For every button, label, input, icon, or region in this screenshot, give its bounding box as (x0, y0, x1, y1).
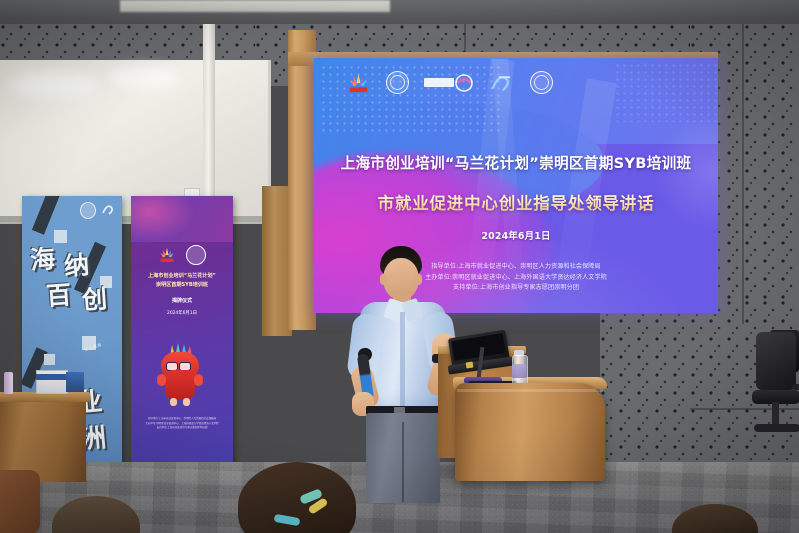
swoosh-logo (490, 70, 515, 95)
mascot-body (165, 370, 195, 400)
banner-purple-date: 2024年6月1日 (135, 310, 229, 316)
banner-purple-credits: 指导单位:上海市就业促进中心、崇明区人力资源和社会保障局 主办单位:崇明区就业促… (136, 417, 228, 431)
banner-purple-title3: 揭牌仪式 (135, 297, 229, 304)
speaker-ear (415, 274, 422, 285)
speaker-ear (380, 274, 387, 285)
banner-title-line: 崇明区首期SYB培训班 (135, 281, 229, 290)
whiteboard-glare (108, 66, 178, 88)
screen-logo-row (346, 70, 554, 95)
supply-box (66, 372, 84, 392)
ceiling-light (120, 0, 390, 12)
whiteboard-glare (10, 72, 100, 98)
banner-purple-logos (145, 244, 219, 266)
mascot-leg (170, 398, 177, 406)
wall-seam (742, 24, 744, 324)
podium (455, 383, 605, 481)
audience-person (0, 470, 40, 533)
chair-base (754, 424, 799, 432)
banner-blue-word: 海 (29, 239, 56, 277)
cup (4, 372, 13, 394)
credit-line: 指导单位:上海市就业促进中心、崇明区人力资源和社会保障局 (136, 417, 228, 422)
credit-line: 支持单位:上海市创业指导专家志愿团崇明分团 (136, 426, 228, 431)
chongming-seal-logo (186, 245, 206, 265)
university-seal-logo (529, 70, 554, 95)
laptop-badge (466, 362, 474, 369)
chair-backrest (756, 332, 796, 390)
wood-column (288, 30, 316, 330)
screen-title-line2: 市就业促进中心创业指导处领导讲话 (314, 190, 718, 214)
office-chair (756, 332, 799, 444)
seal-icon (80, 202, 96, 219)
mascot-arm (157, 374, 166, 386)
swoosh-icon (101, 202, 116, 217)
chongming-seal-logo (385, 70, 410, 95)
banner-purple: 上海市创业培训“马兰花计划” 崇明区首期SYB培训班 揭牌仪式 2024年6月1… (131, 196, 233, 464)
supply-box-band (36, 374, 66, 380)
mascot-leg (183, 398, 190, 406)
banner-blue-logos (80, 202, 116, 224)
mascot-icon (155, 340, 205, 406)
bottle-label (512, 364, 526, 378)
banner-square (44, 354, 55, 365)
mascot-arm (194, 374, 203, 386)
malanhua-flower-logo (346, 70, 371, 95)
speaker-shirt-placket (400, 312, 405, 408)
trouser-seam (402, 422, 404, 502)
screen-title-line1: 上海市创业培训“马兰花计划”崇明区首期SYB培训班 (314, 152, 718, 173)
banner-square (54, 230, 67, 243)
malanhua-flower-logo (158, 246, 176, 264)
banner-blue-word: 百 (45, 275, 72, 313)
screen-date: 2024年6月1日 (314, 228, 718, 242)
banner-purple-title1: 上海市创业培训“马兰花计划” 崇明区首期SYB培训班 (135, 272, 229, 289)
banner-title-line: 上海市创业培训“马兰花计划” (135, 272, 229, 281)
banner-stripe (32, 196, 61, 235)
screenshot-root: 上海市创业培训“马兰花计划”崇明区首期SYB培训班 市就业促进中心创业指导处领导… (0, 0, 799, 533)
podium-edge-highlight (457, 389, 603, 392)
banner-blue-word: 创 (81, 279, 108, 317)
wide-text-logo (424, 74, 476, 91)
